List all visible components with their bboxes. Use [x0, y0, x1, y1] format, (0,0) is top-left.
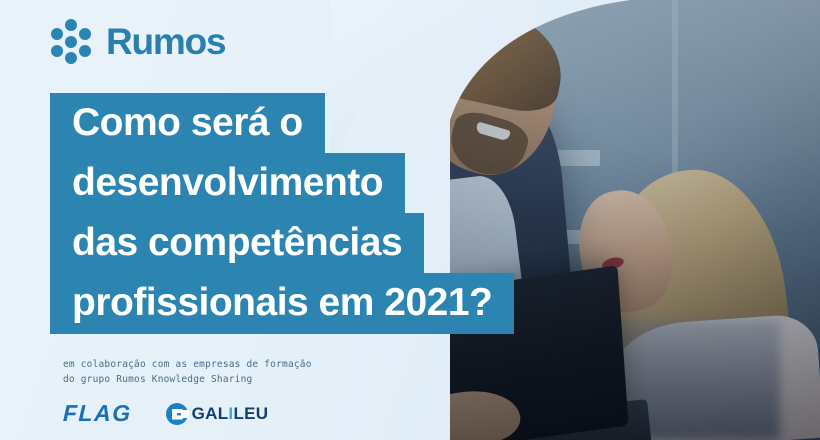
- headline-line-1: Como será o: [50, 93, 325, 154]
- collaboration-line-2: do grupo Rumos Knowledge Sharing: [63, 373, 312, 388]
- partner-logos: FLAG GALILEU: [63, 400, 268, 427]
- flag-logo[interactable]: FLAG: [63, 400, 133, 427]
- headline-line-4: profissionais em 2021?: [50, 273, 514, 334]
- rumos-seven-dot-hex-icon: [48, 18, 94, 64]
- rumos-logo[interactable]: Rumos: [48, 18, 225, 64]
- galileu-logo[interactable]: GALILEU: [166, 403, 269, 425]
- collaboration-note: em colaboração com as empresas de formaç…: [63, 358, 312, 387]
- headline-line-2: desenvolvimento: [50, 153, 405, 214]
- galileu-wordmark-part-b: LEU: [233, 404, 268, 423]
- galileu-wordmark-part-a: GAL: [192, 404, 229, 423]
- headline-block: Como será o desenvolvimento das competên…: [50, 94, 514, 334]
- rumos-wordmark: Rumos: [106, 23, 225, 60]
- collaboration-line-1: em colaboração com as empresas de formaç…: [63, 358, 312, 373]
- headline-line-3: das competências: [50, 213, 424, 274]
- galileu-wordmark: GALILEU: [192, 404, 269, 424]
- promo-banner: Rumos Como será o desenvolvimento das co…: [0, 0, 820, 440]
- galileu-g-circle-icon: [166, 403, 188, 425]
